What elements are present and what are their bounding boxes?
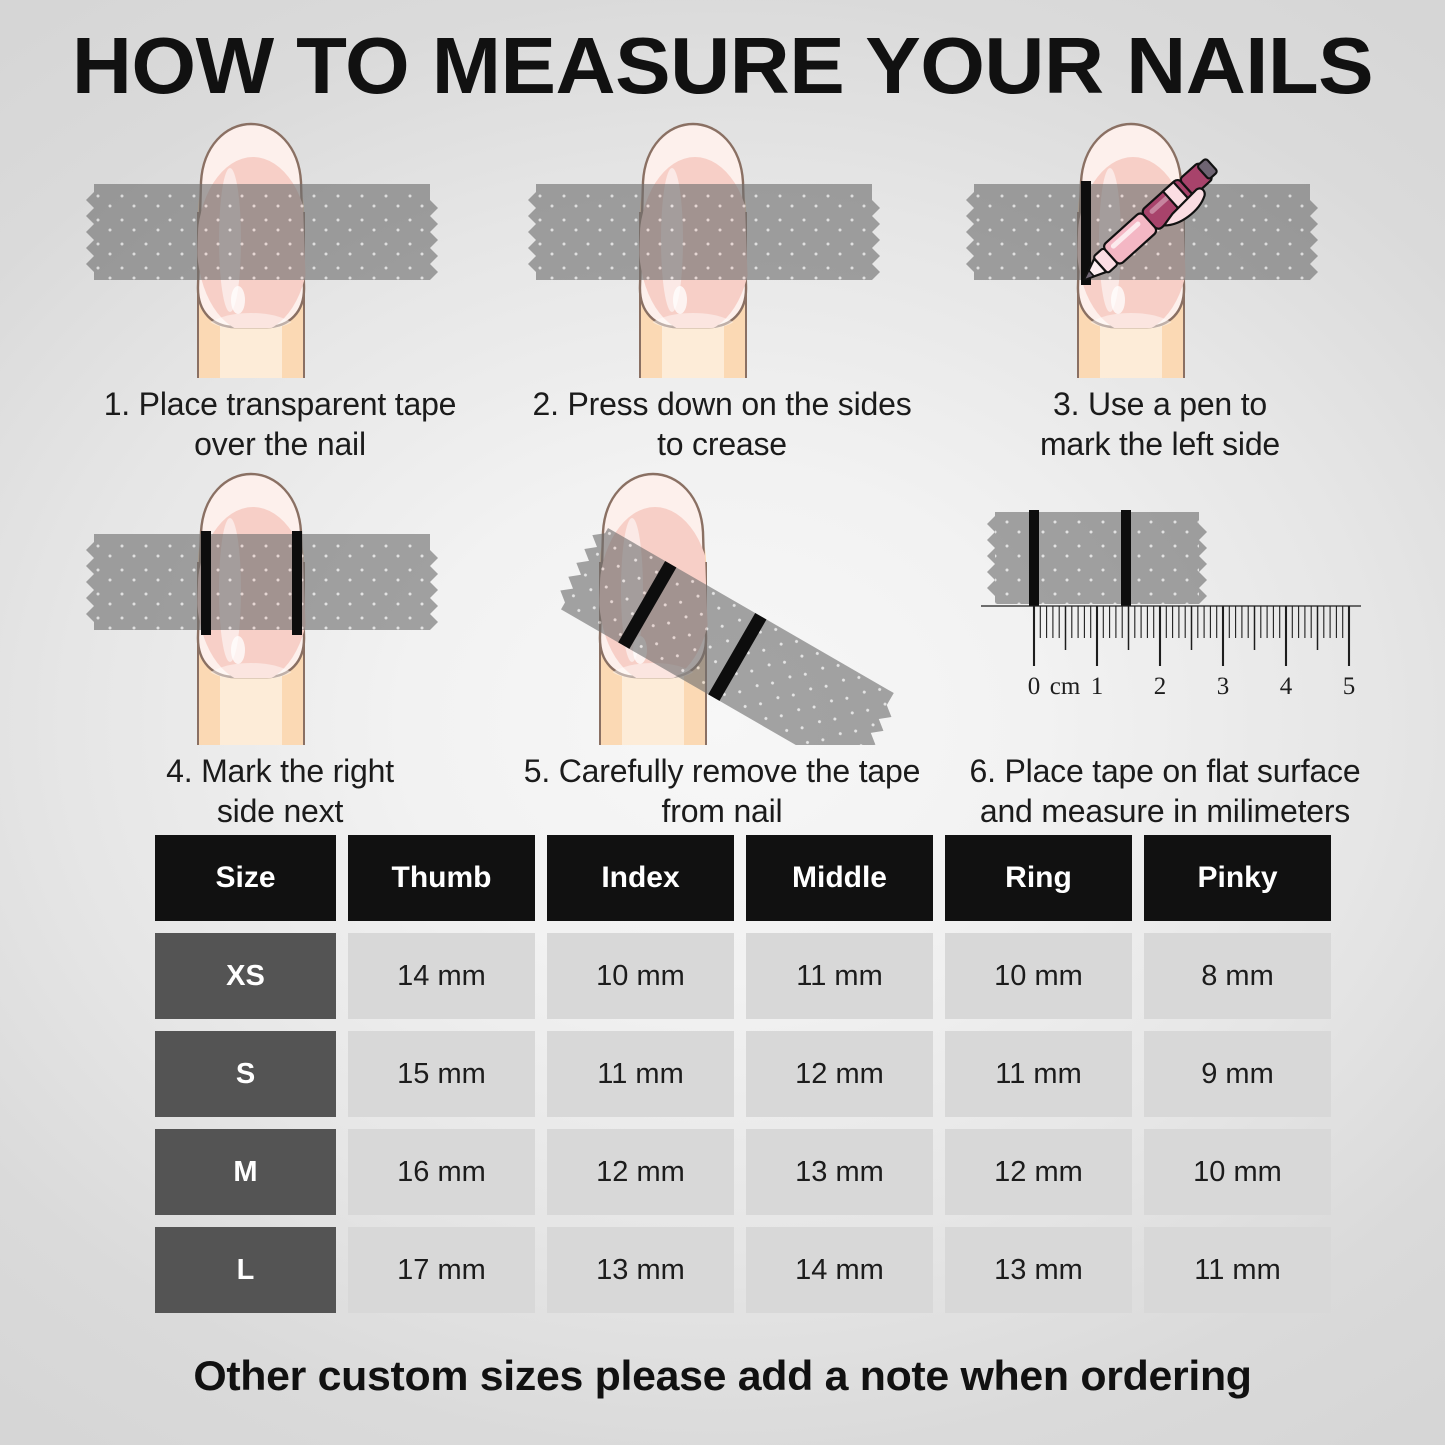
cell-s-middle: 12 mm bbox=[746, 1031, 933, 1117]
table-header-pinky: Pinky bbox=[1144, 835, 1331, 921]
ruler bbox=[981, 606, 1361, 666]
cell-m-index: 12 mm bbox=[547, 1129, 734, 1215]
ruler-label-4: 4 bbox=[1280, 673, 1293, 700]
finger-tape-pen-icon bbox=[950, 120, 1370, 378]
cell-s-thumb: 15 mm bbox=[348, 1031, 535, 1117]
cell-l-middle: 14 mm bbox=[746, 1227, 933, 1313]
step-4-illustration bbox=[70, 470, 490, 745]
table-row: M 16 mm 12 mm 13 mm 12 mm 10 mm bbox=[155, 1129, 1325, 1215]
cell-xs-index: 10 mm bbox=[547, 933, 734, 1019]
table-header-size: Size bbox=[155, 835, 336, 921]
step-1: 1. Place transparent tape over the nail bbox=[70, 120, 490, 464]
ruler-label-0: 0 bbox=[1028, 673, 1041, 700]
mark-left bbox=[1029, 510, 1039, 606]
size-table: Size Thumb Index Middle Ring Pinky XS 14… bbox=[155, 835, 1325, 1325]
step-3-illustration bbox=[950, 120, 1370, 378]
step-6-caption: 6. Place tape on flat surface and measur… bbox=[940, 751, 1390, 831]
table-header-thumb: Thumb bbox=[348, 835, 535, 921]
step-5-illustration bbox=[512, 470, 932, 745]
step-1-caption: 1. Place transparent tape over the nail bbox=[70, 384, 490, 464]
step-2-caption: 2. Press down on the sides to crease bbox=[512, 384, 932, 464]
mark-left bbox=[201, 531, 211, 635]
table-row: XS 14 mm 10 mm 11 mm 10 mm 8 mm bbox=[155, 933, 1325, 1019]
step-6-illustration: 0 cm 1 2 3 4 5 bbox=[955, 470, 1375, 745]
ruler-label-3: 3 bbox=[1217, 673, 1230, 700]
cell-m-thumb: 16 mm bbox=[348, 1129, 535, 1215]
step-2-illustration bbox=[512, 120, 932, 378]
mark-right bbox=[1121, 510, 1131, 606]
infographic-page: HOW TO MEASURE YOUR NAILS bbox=[0, 0, 1445, 1445]
cell-s-pinky: 9 mm bbox=[1144, 1031, 1331, 1117]
cell-l-thumb: 17 mm bbox=[348, 1227, 535, 1313]
size-label-l: L bbox=[155, 1227, 336, 1313]
tape-on-ruler-icon: 0 cm 1 2 3 4 5 bbox=[955, 470, 1375, 745]
table-header-row: Size Thumb Index Middle Ring Pinky bbox=[155, 835, 1325, 921]
step-6: 0 cm 1 2 3 4 5 6. Place tape on flat sur… bbox=[955, 470, 1375, 831]
step-5-caption: 5. Carefully remove the tape from nail bbox=[512, 751, 932, 831]
cell-l-ring: 13 mm bbox=[945, 1227, 1132, 1313]
step-4-caption: 4. Mark the right side next bbox=[70, 751, 490, 831]
cell-m-middle: 13 mm bbox=[746, 1129, 933, 1215]
table-header-ring: Ring bbox=[945, 835, 1132, 921]
ruler-label-5: 5 bbox=[1343, 673, 1356, 700]
cell-s-index: 11 mm bbox=[547, 1031, 734, 1117]
table-header-middle: Middle bbox=[746, 835, 933, 921]
ruler-label-2: 2 bbox=[1154, 673, 1167, 700]
size-label-m: M bbox=[155, 1129, 336, 1215]
table-row: L 17 mm 13 mm 14 mm 13 mm 11 mm bbox=[155, 1227, 1325, 1313]
cell-xs-pinky: 8 mm bbox=[1144, 933, 1331, 1019]
cell-xs-ring: 10 mm bbox=[945, 933, 1132, 1019]
finger-with-creased-tape-icon bbox=[512, 120, 932, 378]
finger-tape-peeling-icon bbox=[512, 470, 932, 745]
step-2: 2. Press down on the sides to crease bbox=[512, 120, 932, 464]
finger-tape-two-marks-icon bbox=[70, 470, 490, 745]
step-3-caption: 3. Use a pen to mark the left side bbox=[950, 384, 1370, 464]
cell-m-ring: 12 mm bbox=[945, 1129, 1132, 1215]
ruler-label-1: 1 bbox=[1091, 673, 1104, 700]
cell-m-pinky: 10 mm bbox=[1144, 1129, 1331, 1215]
size-label-xs: XS bbox=[155, 933, 336, 1019]
step-3: 3. Use a pen to mark the left side bbox=[950, 120, 1370, 464]
cell-l-pinky: 11 mm bbox=[1144, 1227, 1331, 1313]
table-header-index: Index bbox=[547, 835, 734, 921]
finger-with-tape-icon bbox=[70, 120, 490, 378]
table-row: S 15 mm 11 mm 12 mm 11 mm 9 mm bbox=[155, 1031, 1325, 1117]
cell-xs-thumb: 14 mm bbox=[348, 933, 535, 1019]
cell-s-ring: 11 mm bbox=[945, 1031, 1132, 1117]
cell-l-index: 13 mm bbox=[547, 1227, 734, 1313]
mark-right bbox=[292, 531, 302, 635]
size-label-s: S bbox=[155, 1031, 336, 1117]
cell-xs-middle: 11 mm bbox=[746, 933, 933, 1019]
page-title: HOW TO MEASURE YOUR NAILS bbox=[0, 20, 1445, 112]
step-1-illustration bbox=[70, 120, 490, 378]
ruler-unit-label: cm bbox=[1050, 673, 1081, 700]
step-4: 4. Mark the right side next bbox=[70, 470, 490, 831]
step-5: 5. Carefully remove the tape from nail bbox=[512, 470, 932, 831]
footer-note: Other custom sizes please add a note whe… bbox=[0, 1352, 1445, 1400]
